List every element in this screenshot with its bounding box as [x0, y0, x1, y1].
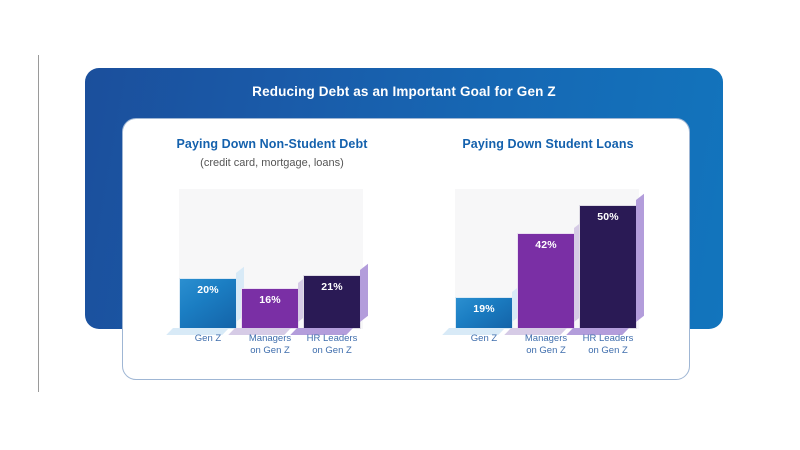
bar-gen-z[interactable]: 20% [179, 278, 237, 329]
axis-label-line: Managers [513, 333, 579, 345]
bar-value-label: 50% [580, 211, 636, 223]
axis-label-group: Gen Z Managers on Gen Z HR Leaders on Ge… [179, 333, 369, 373]
charts-card: Paying Down Non-Student Debt (credit car… [122, 118, 690, 380]
chart-title: Paying Down Student Loans [413, 137, 683, 151]
axis-label-line: HR Leaders [299, 333, 365, 345]
axis-label-line: HR Leaders [575, 333, 641, 345]
bar-group: 20% 16% 21% [179, 189, 369, 329]
axis-label-line: Gen Z [175, 333, 241, 345]
axis-label-hr-leaders: HR Leaders on Gen Z [299, 333, 365, 357]
bar-group: 19% 42% 50% [455, 189, 645, 329]
bar-gen-z[interactable]: 19% [455, 297, 513, 329]
axis-label-line: on Gen Z [299, 345, 365, 357]
bar-managers-on-gen-z[interactable]: 42% [517, 233, 575, 329]
bar-value-label: 16% [242, 294, 298, 306]
bar-slot: 19% [455, 189, 513, 329]
axis-label-managers: Managers on Gen Z [237, 333, 303, 357]
axis-label-line: on Gen Z [575, 345, 641, 357]
chart-subtitle: (credit card, mortgage, loans) [137, 157, 407, 169]
bar-slot: 16% [241, 189, 299, 329]
axis-label-hr-leaders: HR Leaders on Gen Z [575, 333, 641, 357]
axis-label-managers: Managers on Gen Z [513, 333, 579, 357]
bar-side-face [636, 194, 644, 322]
bar-slot: 21% [303, 189, 361, 329]
bar-side-face [360, 264, 368, 322]
bar-value-label: 20% [180, 284, 236, 296]
axis-label-line: on Gen Z [237, 345, 303, 357]
charts-row: Paying Down Non-Student Debt (credit car… [123, 119, 689, 379]
chart-student-loans: Paying Down Student Loans 19% 42% [413, 119, 683, 379]
axis-label-gen-z: Gen Z [175, 333, 241, 345]
bar-slot: 42% [517, 189, 575, 329]
axis-label-line: Gen Z [451, 333, 517, 345]
axis-label-line: Managers [237, 333, 303, 345]
axis-label-gen-z: Gen Z [451, 333, 517, 345]
axis-label-line: on Gen Z [513, 345, 579, 357]
axis-label-group: Gen Z Managers on Gen Z HR Leaders on Ge… [455, 333, 645, 373]
chart-title: Paying Down Non-Student Debt [137, 137, 407, 151]
bar-value-label: 42% [518, 239, 574, 251]
bar-value-label: 21% [304, 281, 360, 293]
bar-hr-leaders-on-gen-z[interactable]: 50% [579, 205, 637, 329]
bar-value-label: 19% [456, 303, 512, 315]
bar-slot: 20% [179, 189, 237, 329]
page-title: Reducing Debt as an Important Goal for G… [85, 84, 723, 99]
bar-managers-on-gen-z[interactable]: 16% [241, 288, 299, 329]
left-vertical-rule [38, 55, 39, 392]
bar-slot: 50% [579, 189, 637, 329]
bar-hr-leaders-on-gen-z[interactable]: 21% [303, 275, 361, 329]
chart-non-student-debt: Paying Down Non-Student Debt (credit car… [137, 119, 407, 379]
